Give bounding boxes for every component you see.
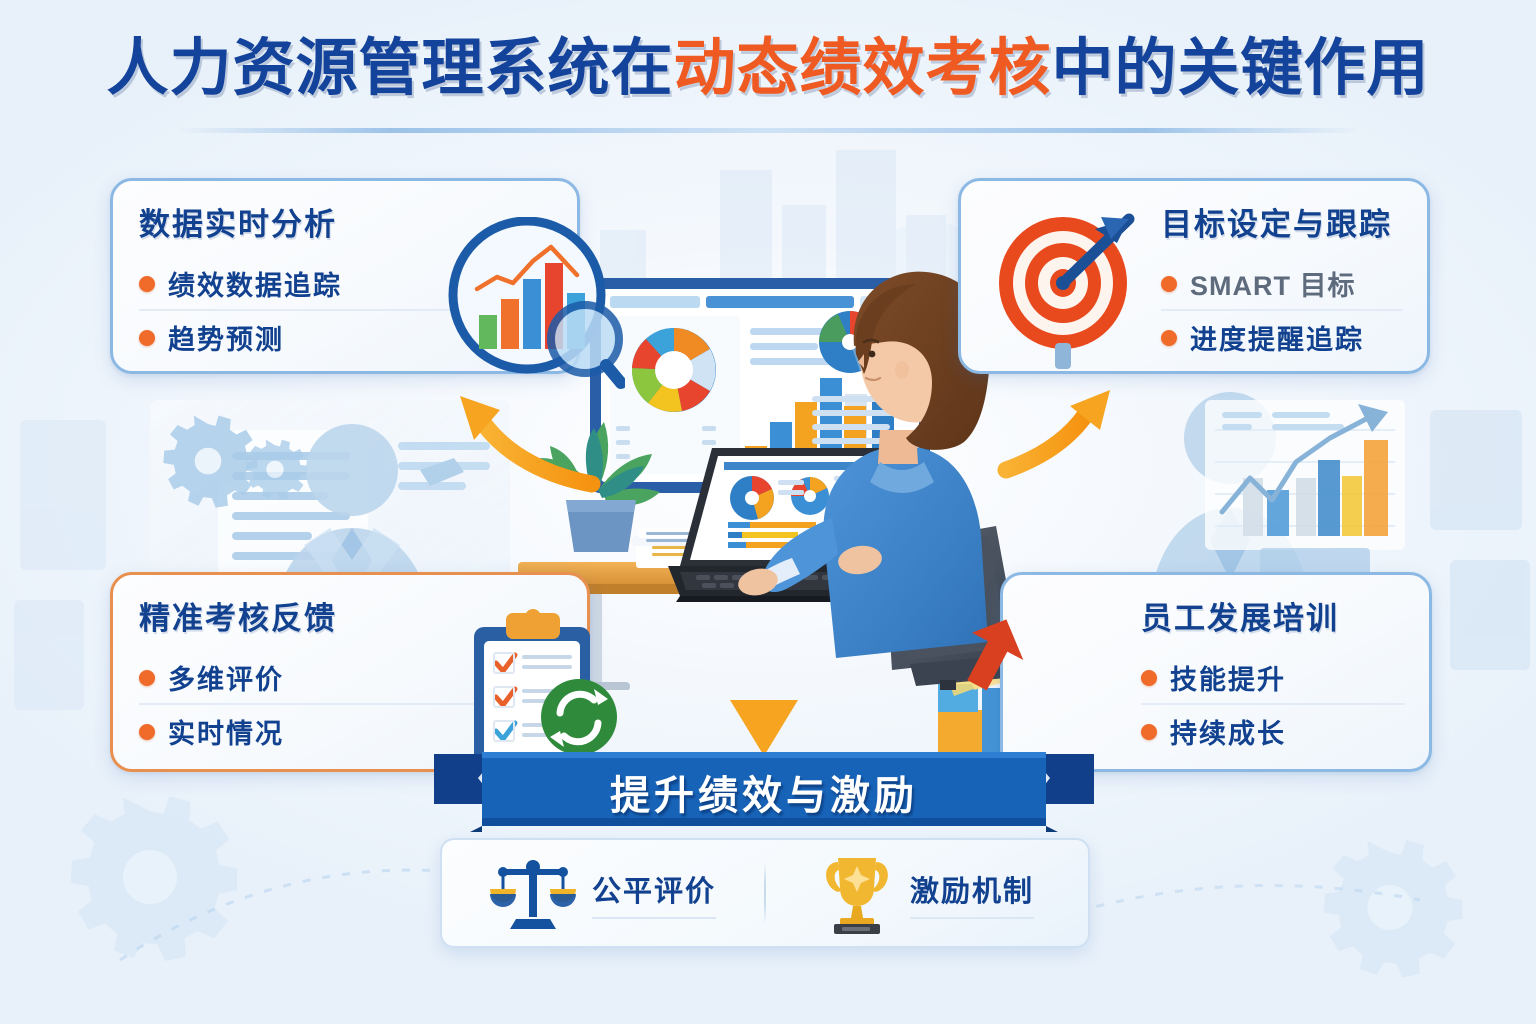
card-assessment-feedback[interactable]: 精准考核反馈 多维评价 实时情况 xyxy=(110,572,590,772)
bullet-label: 技能提升 xyxy=(1170,658,1286,697)
bullet-label: 趋势预测 xyxy=(168,318,284,357)
footer-label: 公平评价 xyxy=(592,868,716,919)
list-item[interactable]: 进度提醒追踪 xyxy=(1161,309,1403,363)
result-banner: 提升绩效与激励 xyxy=(434,752,1094,832)
bullet-dot-icon xyxy=(1161,276,1177,292)
list-item[interactable]: 技能提升 xyxy=(1141,651,1405,703)
title-part-3: 中的关键作用 xyxy=(1052,36,1430,101)
balance-scales-icon xyxy=(490,853,576,933)
card-header: 员工发展培训 xyxy=(1141,593,1405,638)
bullet-list: SMART 目标 进度提醒追踪 xyxy=(1161,257,1403,363)
bullet-label: 绩效数据追踪 xyxy=(168,264,342,303)
monitor-donut-chart xyxy=(632,328,716,412)
trophy-icon xyxy=(820,852,894,934)
card-title: 精准考核反馈 xyxy=(139,593,337,638)
card-header: 目标设定与跟踪 xyxy=(1161,199,1403,244)
list-item[interactable]: 持续成长 xyxy=(1141,703,1405,757)
bullet-label: 持续成长 xyxy=(1170,712,1286,751)
footer-item-incentive[interactable]: 激励机制 xyxy=(766,840,1088,946)
card-employee-development[interactable]: 员工发展培训 技能提升 持续成长 xyxy=(1000,572,1432,772)
title-part-highlight: 动态绩效考核 xyxy=(673,36,1051,101)
infographic-canvas: 人力资源管理系统在动态绩效考核中的关键作用 xyxy=(0,0,1536,1024)
footer-item-fair-evaluation[interactable]: 公平评价 xyxy=(442,840,764,946)
bullet-dot-icon xyxy=(139,724,155,740)
bullet-label: 多维评价 xyxy=(168,658,284,697)
target-arrow-icon xyxy=(977,199,1152,379)
magnifier-bar-chart-icon xyxy=(435,217,625,397)
person-growth-icon xyxy=(907,593,1057,773)
bullet-dot-icon xyxy=(139,670,155,686)
card-title: 目标设定与跟踪 xyxy=(1161,199,1392,244)
bullet-dot-icon xyxy=(1161,330,1177,346)
bullet-dot-icon xyxy=(1141,724,1157,740)
list-item[interactable]: SMART 目标 xyxy=(1161,257,1403,309)
bullet-dot-icon xyxy=(139,276,155,292)
bullet-label: SMART 目标 xyxy=(1190,264,1356,303)
bullet-list: 技能提升 持续成长 xyxy=(1141,651,1405,757)
laptop-pie-1 xyxy=(730,476,774,520)
card-data-analysis[interactable]: 数据实时分析 绩效数据追踪 趋势预测 xyxy=(110,178,580,374)
bullet-dot-icon xyxy=(1141,670,1157,686)
bullet-dot-icon xyxy=(139,330,155,346)
page-title: 人力资源管理系统在动态绩效考核中的关键作用 xyxy=(0,36,1536,101)
footer-label: 激励机制 xyxy=(910,868,1034,919)
card-title: 数据实时分析 xyxy=(139,199,337,244)
bullet-label: 实时情况 xyxy=(168,712,284,751)
footer-panel: 公平评价 激励机制 xyxy=(440,838,1090,948)
bullet-label: 进度提醒追踪 xyxy=(1190,318,1364,357)
card-goal-setting[interactable]: 目标设定与跟踪 SMART 目标 进度提醒追踪 xyxy=(958,178,1430,374)
card-title: 员工发展培训 xyxy=(1141,593,1339,638)
title-part-1: 人力资源管理系统在 xyxy=(106,36,673,101)
banner-label: 提升绩效与激励 xyxy=(434,752,1094,832)
title-underline xyxy=(178,128,1358,133)
